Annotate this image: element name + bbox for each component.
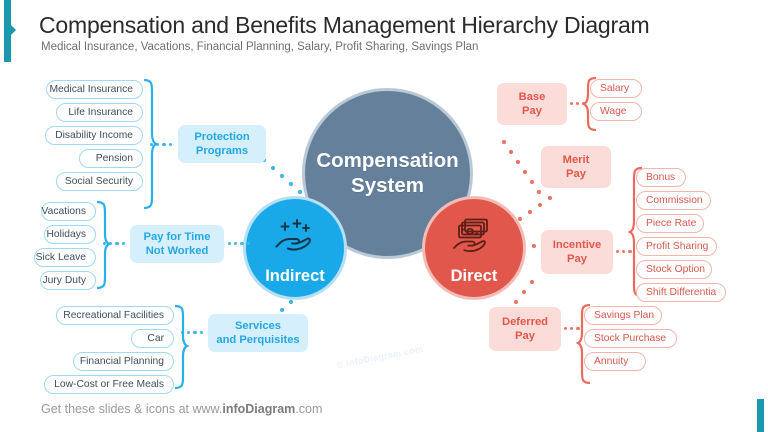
pill-label: Bonus (646, 172, 675, 183)
pill-label: Medical Insurance (49, 84, 133, 95)
list-item[interactable]: Shift Differentia (636, 283, 726, 302)
list-item[interactable]: Car (131, 329, 174, 348)
bracket-protection (143, 78, 157, 210)
list-item[interactable]: Life Insurance (56, 103, 143, 122)
center-label-line1: Compensation (316, 149, 458, 172)
pill-label: Recreational Facilities (63, 310, 164, 321)
pill-label: Savings Plan (594, 310, 654, 321)
pill-label: Car (147, 333, 164, 344)
group-meritpay-line2: Pay (566, 168, 586, 180)
group-basepay-line2: Pay (522, 105, 542, 117)
bracket-paytime (96, 200, 110, 290)
pill-label: Shift Differentia (646, 287, 716, 298)
pill-label: Piece Rate (646, 218, 696, 229)
footer-credit: Get these slides & icons at www.infoDiag… (41, 402, 322, 416)
list-item[interactable]: Savings Plan (584, 306, 662, 325)
pill-label: Life Insurance (68, 107, 133, 118)
list-item[interactable]: Wage (590, 102, 642, 121)
list-item[interactable]: Financial Planning (73, 352, 174, 371)
pill-label: Disability Income (55, 130, 133, 141)
list-item[interactable]: Holidays (44, 225, 96, 244)
group-incentivepay-line1: Incentive (553, 239, 602, 251)
list-item[interactable]: Disability Income (45, 126, 143, 145)
pill-label: Vacations (42, 206, 86, 217)
group-merit-pay[interactable]: Merit Pay (541, 146, 611, 188)
group-services-line1: Services (235, 320, 281, 332)
list-item[interactable]: Sick Leave (34, 248, 96, 267)
list-item[interactable]: Salary (590, 79, 642, 98)
group-services-and-perquisites[interactable]: Services and Perquisites (208, 314, 308, 352)
pill-label: Stock Purchase (594, 333, 666, 344)
group-protection-line2: Programs (196, 145, 248, 157)
direct-circle[interactable]: Direct (422, 196, 526, 300)
pill-label: Social Security (65, 176, 133, 187)
list-item[interactable]: Jury Duty (40, 271, 96, 290)
pill-label: Stock Option (646, 264, 705, 275)
list-item[interactable]: Bonus (636, 168, 686, 187)
group-paytime-line2: Not Worked (146, 245, 209, 257)
list-item[interactable]: Vacations (41, 202, 96, 221)
list-item[interactable]: Recreational Facilities (56, 306, 174, 325)
pill-label: Low-Cost or Free Meals (54, 379, 164, 390)
pill-label: Profit Sharing (646, 241, 708, 252)
right-accent-bar (757, 399, 764, 432)
watermark: © infoDiagram.com (336, 344, 424, 371)
pill-label: Salary (600, 83, 629, 94)
bracket-services (174, 304, 188, 390)
group-basepay-line1: Base (519, 91, 546, 103)
footer-prefix: Get these slides & icons at www. (41, 402, 222, 416)
group-base-pay[interactable]: Base Pay (497, 83, 567, 125)
hand-with-sparkles-icon (272, 217, 318, 262)
list-item[interactable]: Stock Option (636, 260, 712, 279)
footer-suffix: .com (295, 402, 322, 416)
group-pay-for-time-not-worked[interactable]: Pay for Time Not Worked (130, 225, 224, 263)
list-item[interactable]: Pension (79, 149, 143, 168)
slide-canvas: Compensation and Benefits Management Hie… (0, 0, 768, 432)
list-item[interactable]: Medical Insurance (46, 80, 143, 99)
list-item[interactable]: Stock Purchase (584, 329, 677, 348)
group-deferred-pay[interactable]: Deferred Pay (489, 307, 561, 351)
banknotes-on-hand-icon (451, 217, 497, 262)
pill-label: Jury Duty (43, 275, 87, 286)
page-title: Compensation and Benefits Management Hie… (39, 12, 650, 39)
direct-label: Direct (451, 267, 498, 286)
pill-label: Financial Planning (80, 356, 164, 367)
pill-label: Commission (646, 195, 703, 206)
group-deferredpay-line2: Pay (515, 330, 535, 342)
connector-paytime-to-indirect (228, 242, 250, 245)
group-incentive-pay[interactable]: Incentive Pay (541, 230, 613, 274)
left-accent-bar (4, 0, 11, 62)
group-incentivepay-line2: Pay (567, 253, 587, 265)
indirect-circle[interactable]: Indirect (243, 196, 347, 300)
list-item[interactable]: Social Security (56, 172, 143, 191)
list-item[interactable]: Low-Cost or Free Meals (44, 375, 174, 394)
group-meritpay-line1: Merit (563, 154, 590, 166)
page-subtitle: Medical Insurance, Vacations, Financial … (41, 41, 478, 53)
pill-label: Holidays (47, 229, 87, 240)
group-paytime-line1: Pay for Time (144, 231, 211, 243)
group-deferredpay-line1: Deferred (502, 316, 548, 328)
pill-label: Annuity (594, 356, 628, 367)
group-services-line2: and Perquisites (216, 334, 299, 346)
list-item[interactable]: Profit Sharing (636, 237, 717, 256)
list-item[interactable]: Annuity (584, 352, 646, 371)
center-label-line2: System (351, 174, 424, 197)
group-protection-programs[interactable]: Protection Programs (178, 125, 266, 163)
indirect-label: Indirect (265, 267, 325, 286)
list-item[interactable]: Commission (636, 191, 711, 210)
left-accent-notch-icon (11, 25, 16, 35)
group-protection-line1: Protection (194, 131, 249, 143)
pill-label: Wage (600, 106, 627, 117)
footer-brand: infoDiagram (222, 402, 295, 416)
pill-label: Sick Leave (36, 252, 86, 263)
list-item[interactable]: Piece Rate (636, 214, 704, 233)
pill-label: Pension (96, 153, 133, 164)
